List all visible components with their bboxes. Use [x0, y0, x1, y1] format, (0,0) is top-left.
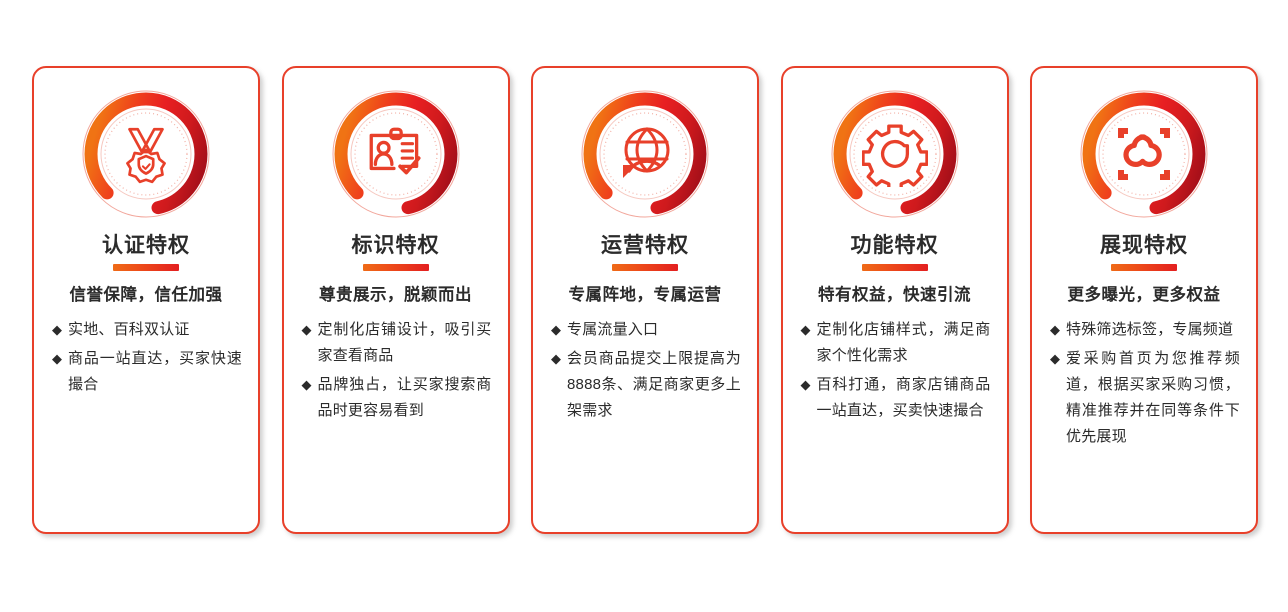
privilege-card-display[interactable]: 展现特权 更多曝光，更多权益 ◆ 特殊筛选标签，专属频道 ◆ 爱采购首页为您推荐…: [1030, 66, 1258, 534]
medal-certification-icon: [76, 84, 216, 224]
list-item-text: 定制化店铺设计，吸引买家查看商品: [318, 317, 492, 369]
list-item: ◆ 实地、百科双认证: [52, 317, 242, 343]
globe-traffic-icon: [575, 84, 715, 224]
bullet-list: ◆ 实地、百科双认证 ◆ 商品一站直达，买家快速撮合: [44, 317, 248, 401]
card-title: 标识特权: [352, 234, 440, 257]
list-item: ◆ 品牌独占，让买家搜索商品时更容易看到: [302, 372, 492, 424]
list-item-text: 专属流量入口: [567, 317, 741, 343]
privilege-card-certification[interactable]: 认证特权 信誉保障，信任加强 ◆ 实地、百科双认证 ◆ 商品一站直达，买家快速撮…: [32, 66, 260, 534]
diamond-bullet-icon: ◆: [1050, 317, 1060, 343]
diamond-bullet-icon: ◆: [302, 372, 312, 398]
diamond-bullet-icon: ◆: [1050, 346, 1060, 372]
list-item-text: 实地、百科双认证: [68, 317, 242, 343]
card-subtitle: 信誉保障，信任加强: [70, 281, 223, 305]
list-item-text: 百科打通，商家店铺商品一站直达，买卖快速撮合: [817, 372, 991, 424]
bullet-list: ◆ 定制化店铺样式，满足商家个性化需求 ◆ 百科打通，商家店铺商品一站直达，买卖…: [793, 317, 997, 427]
diamond-bullet-icon: ◆: [551, 346, 561, 372]
cloud-bracket-glyph: [1074, 84, 1214, 224]
globe-arrow-glyph: [575, 84, 715, 224]
privilege-cards-board: 认证特权 信誉保障，信任加强 ◆ 实地、百科双认证 ◆ 商品一站直达，买家快速撮…: [0, 0, 1288, 612]
diamond-bullet-icon: ◆: [302, 317, 312, 343]
medal-glyph: [76, 84, 216, 224]
list-item: ◆ 专属流量入口: [551, 317, 741, 343]
diamond-bullet-icon: ◆: [801, 317, 811, 343]
title-underline-bar: [113, 264, 179, 271]
card-title: 认证特权: [102, 234, 190, 257]
title-underline-bar: [1111, 264, 1177, 271]
list-item: ◆ 定制化店铺设计，吸引买家查看商品: [302, 317, 492, 369]
diamond-bullet-icon: ◆: [52, 317, 62, 343]
list-item: ◆ 定制化店铺样式，满足商家个性化需求: [801, 317, 991, 369]
list-item-text: 会员商品提交上限提高为8888条、满足商家更多上架需求: [567, 346, 741, 424]
diamond-bullet-icon: ◆: [801, 372, 811, 398]
title-underline-bar: [862, 264, 928, 271]
gear-glyph: [825, 84, 965, 224]
list-item: ◆ 会员商品提交上限提高为8888条、满足商家更多上架需求: [551, 346, 741, 424]
cloud-focus-display-icon: [1074, 84, 1214, 224]
card-title: 展现特权: [1100, 234, 1188, 257]
privilege-card-identity[interactable]: 标识特权 尊贵展示，脱颖而出 ◆ 定制化店铺设计，吸引买家查看商品 ◆ 品牌独占…: [282, 66, 510, 534]
privilege-card-function[interactable]: 功能特权 特有权益，快速引流 ◆ 定制化店铺样式，满足商家个性化需求 ◆ 百科打…: [781, 66, 1009, 534]
card-title: 运营特权: [601, 234, 689, 257]
list-item-text: 爱采购首页为您推荐频道，根据买家采购习惯，精准推荐并在同等条件下优先展现: [1066, 346, 1240, 450]
id-card-glyph: [326, 84, 466, 224]
diamond-bullet-icon: ◆: [551, 317, 561, 343]
privilege-card-operation[interactable]: 运营特权 专属阵地，专属运营 ◆ 专属流量入口 ◆ 会员商品提交上限提高为888…: [531, 66, 759, 534]
cards-row: 认证特权 信誉保障，信任加强 ◆ 实地、百科双认证 ◆ 商品一站直达，买家快速撮…: [32, 66, 1258, 534]
list-item: ◆ 商品一站直达，买家快速撮合: [52, 346, 242, 398]
list-item-text: 定制化店铺样式，满足商家个性化需求: [817, 317, 991, 369]
card-subtitle: 专属阵地，专属运营: [569, 281, 722, 305]
bullet-list: ◆ 定制化店铺设计，吸引买家查看商品 ◆ 品牌独占，让买家搜索商品时更容易看到: [294, 317, 498, 427]
bullet-list: ◆ 特殊筛选标签，专属频道 ◆ 爱采购首页为您推荐频道，根据买家采购习惯，精准推…: [1042, 317, 1246, 453]
card-subtitle: 更多曝光，更多权益: [1068, 281, 1221, 305]
card-subtitle: 特有权益，快速引流: [818, 281, 971, 305]
list-item-text: 品牌独占，让买家搜索商品时更容易看到: [318, 372, 492, 424]
title-underline-bar: [363, 264, 429, 271]
card-subtitle: 尊贵展示，脱颖而出: [319, 281, 472, 305]
list-item: ◆ 爱采购首页为您推荐频道，根据买家采购习惯，精准推荐并在同等条件下优先展现: [1050, 346, 1240, 450]
list-item: ◆ 特殊筛选标签，专属频道: [1050, 317, 1240, 343]
id-badge-verified-icon: [326, 84, 466, 224]
list-item: ◆ 百科打通，商家店铺商品一站直达，买卖快速撮合: [801, 372, 991, 424]
diamond-bullet-icon: ◆: [52, 346, 62, 372]
list-item-text: 商品一站直达，买家快速撮合: [68, 346, 242, 398]
list-item-text: 特殊筛选标签，专属频道: [1066, 317, 1240, 343]
gear-settings-icon: [825, 84, 965, 224]
card-title: 功能特权: [851, 234, 939, 257]
bullet-list: ◆ 专属流量入口 ◆ 会员商品提交上限提高为8888条、满足商家更多上架需求: [543, 317, 747, 427]
title-underline-bar: [612, 264, 678, 271]
